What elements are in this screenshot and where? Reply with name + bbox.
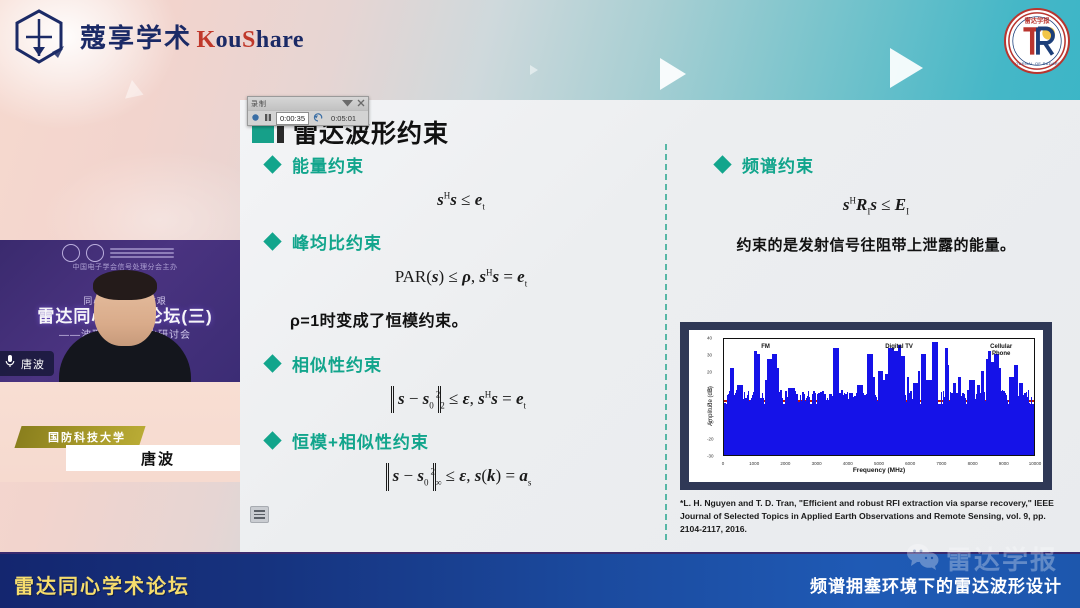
chart-noise-spike [951,393,953,455]
decorative-triangle-icon [125,80,147,104]
formula-spectrum: sHRIs ≤ EI [680,195,1072,216]
slide-menu-icon[interactable] [250,506,269,523]
hexagon-logo-icon [8,6,70,68]
chart-noise-spike [780,390,782,455]
talk-title: 频谱拥塞环境下的雷达波形设计 [810,572,1062,597]
chart-annotation-digital-tv: Digital TV [885,344,913,351]
chart-y-tick: 20 [707,369,712,374]
brand-english-name: KouShare [196,27,304,53]
chart-noise-spike [910,400,912,455]
chart-peak-spike [907,377,909,455]
chevron-down-icon[interactable] [342,99,353,109]
chart-peak-spike [977,385,981,455]
svg-text:JOURNAL OF RADARS: JOURNAL OF RADARS [1013,61,1061,66]
diamond-bullet-icon [263,155,281,173]
forum-title: 雷达同心学术论坛 [14,570,190,599]
bullet-item-energy: 能量约束 [266,152,656,177]
diamond-bullet-icon [263,354,281,372]
brand-letters-hare: hare [256,27,304,53]
recording-toolbar-controls[interactable]: 0:00:35 0:05:01 [248,110,368,125]
chart-annotation-fm: FM [761,344,770,351]
formula-par: PAR(s) ≤ ρ, sHs = et [266,267,656,288]
chart-peak-spike [932,342,938,455]
chart-noise-spike [750,400,752,455]
total-time-field[interactable]: 0:05:01 [327,112,360,125]
chart-noise-spike [863,395,865,455]
chart-x-tick: 9000 [999,461,1009,466]
chart-y-tick: -30 [707,454,714,459]
microphone-status-badge: 唐波 [0,351,54,376]
chart-noise-spike [841,394,843,455]
affiliation-label: 国防科技大学 [48,429,126,445]
chart-noise-spike [1004,391,1006,455]
chart-peak-spike [870,377,875,455]
chart-annotation-cellular-phone: CellularPhone [978,344,1024,358]
chart-noise-spike [875,397,877,455]
chart-noise-spike [824,400,826,455]
video-background-org-marks [62,244,174,262]
journal-of-radars-logo: 雷达学报 JOURNAL OF RADARS [1004,8,1070,74]
chart-noise-spike [853,398,855,455]
chart-x-tick: 2000 [780,461,790,466]
chart-peak-spike [833,383,838,456]
spectrum-figure-canvas: Amplitude (dB) FM Digital TV CellularPho… [689,330,1043,482]
chart-noise-spike [763,398,765,455]
chart-noise-spike [847,399,849,455]
brand-letter-s: S [242,27,256,53]
chart-peak-spike [997,368,1001,455]
chart-noise-spike [827,400,829,455]
chart-peak-spike [857,385,862,455]
bottom-banner: 雷达学报 雷达同心学术论坛 频谱拥塞环境下的雷达波形设计 [0,552,1080,608]
decorative-triangle-icon [530,65,538,75]
slide-right-column: 频谱约束 sHRIs ≤ EI 约束的是发射信号往阻带上泄露的能量。 Ampli… [680,152,1072,269]
microphone-icon [5,354,15,373]
chart-noise-spike [1026,397,1028,455]
chart-plot-area: FM Digital TV CellularPhone [723,338,1035,456]
chart-x-axis-label: Frequency (MHz) [723,467,1035,474]
chart-x-tick: 1000 [749,461,759,466]
chart-x-tick: 4000 [843,461,853,466]
chart-x-tick: 0 [722,461,725,466]
bullet-label: 恒模+相似性约束 [292,428,429,453]
brand-letter-k: K [196,27,215,53]
brand-letters-ou: ou [216,27,242,53]
presenter-head [94,274,156,346]
chart-noise-spike [735,393,737,455]
presenter-hair [93,270,157,300]
pause-icon[interactable] [264,113,272,124]
chart-noise-spike [813,396,815,455]
chart-y-tick: 10 [707,386,712,391]
chart-noise-spike [829,394,831,455]
chart-noise-spike [1028,393,1030,455]
recording-toolbar-title: 录制 [251,99,338,109]
slide-left-column: 能量约束 sHs ≤ et 峰均比约束 PAR(s) ≤ ρ, sHs = et… [266,152,656,506]
decorative-triangle-icon [890,48,923,88]
koushare-brand-logo: 蔻享学术 KouShare [8,6,304,68]
chart-peak-spike [730,368,734,455]
organization-seal-icon [62,244,80,262]
diamond-bullet-icon [263,233,281,251]
formula-energy: sHs ≤ et [266,190,656,211]
organization-seal-icon [86,244,104,262]
figure-citation: *L. H. Nguyen and T. D. Tran, "Efficient… [680,497,1058,536]
recording-toolbar-titlebar[interactable]: 录制 [248,97,368,110]
bullet-item-constmod-similarity: 恒模+相似性约束 [266,428,656,453]
chart-noise-spike [796,394,798,455]
chart-peak-spike [946,365,949,455]
chart-noise-spike [1001,393,1003,455]
replay-icon[interactable] [313,113,323,124]
chart-peak-spike [737,385,743,455]
bullet-label: 相似性约束 [292,351,382,376]
chart-noise-spike [782,402,784,455]
chart-y-tick: -20 [707,437,714,442]
chart-peak-spike [774,368,780,455]
bullet-label: 峰均比约束 [292,229,382,254]
chart-peak-spike [981,371,984,455]
speaker-name-label: 唐波 [21,356,45,372]
chart-noise-spike [808,395,810,455]
chart-peak-spike [756,354,761,456]
bullet-item-spectrum: 频谱约束 [680,152,1072,177]
spectrum-figure: Amplitude (dB) FM Digital TV CellularPho… [680,322,1052,490]
chart-x-tick: 8000 [968,461,978,466]
chart-x-tick: 5000 [874,461,884,466]
chart-noise-spike [1031,397,1033,455]
diamond-bullet-icon [713,155,731,173]
chart-peak-spike [900,356,905,455]
note-spectrum: 约束的是发射信号往阻带上泄露的能量。 [680,234,1072,255]
organization-text-lines [110,248,174,258]
chart-peak-spike [969,380,975,455]
brand-chinese-name: 蔻享学术 [80,23,192,53]
chart-noise-spike [845,394,847,455]
chart-noise-spike [819,394,821,455]
chart-noise-spike [785,397,787,455]
bullet-item-par: 峰均比约束 [266,229,656,254]
chart-x-tick: 10000 [1029,461,1042,466]
close-icon[interactable] [357,99,365,109]
chart-peak-spike [958,377,961,455]
chart-noise-spike [964,394,966,455]
chart-x-tick: 6000 [905,461,915,466]
screen-background: 蔻享学术 KouShare 雷达学报 JOURNAL OF RADARS 中国电… [0,0,1080,608]
chart-x-tick: 3000 [812,461,822,466]
chart-noise-spike [761,398,763,455]
chart-peak-spike [788,388,794,455]
formula-similarity: s − s022 ≤ ε, sHs = et [266,389,656,410]
chart-noise-spike [724,403,726,455]
chart-noise-spike [849,393,851,455]
chart-y-tick: 30 [707,352,712,357]
chart-noise-spike [801,401,803,455]
chart-peak-spike [953,383,956,456]
chart-noise-spike [967,402,969,455]
elapsed-time-field[interactable]: 0:00:35 [276,112,309,125]
recording-toolbar[interactable]: 录制 0:00:35 [247,96,369,126]
bullet-label: 能量约束 [292,152,364,177]
bullet-label: 频谱约束 [742,152,814,177]
chart-y-tick: 0 [707,403,710,408]
presenter-nameplate-area: 国防科技大学 唐波 [0,382,250,482]
column-divider [665,144,667,540]
chart-peak-spike [1019,383,1024,456]
decorative-triangle-icon [660,58,686,90]
presenter-name-plate: 唐波 [66,445,250,471]
svg-text:雷达学报: 雷达学报 [1024,16,1050,25]
chart-noise-spike [805,401,807,455]
chart-noise-spike [843,399,845,455]
formula-constmod-similarity: s − s02∞ ≤ ε, s(k) = as [266,466,656,487]
chart-noise-spike [727,402,729,456]
presentation-slide[interactable]: 雷达波形约束 能量约束 sHs ≤ et 峰均比约束 PAR(s) ≤ ρ, s… [240,100,1080,552]
chart-noise-spike [744,392,746,455]
presenter-figure [59,274,191,382]
chart-noise-spike [822,394,824,455]
chart-y-tick: 40 [707,336,712,341]
diamond-bullet-icon [263,431,281,449]
chart-y-tick: -10 [707,420,714,425]
chart-x-tick: 7000 [936,461,946,466]
record-dot-icon[interactable] [251,113,260,124]
chart-noise-spike [799,402,801,455]
presenter-video-panel[interactable]: 中国电子学会信号处理分会主办 同心战疫 共克时艰 雷达同心学术论坛(三) ——波… [0,240,250,382]
note-par-rho: ρ=1时变成了恒模约束。 [266,307,656,331]
bullet-item-similarity: 相似性约束 [266,351,656,376]
